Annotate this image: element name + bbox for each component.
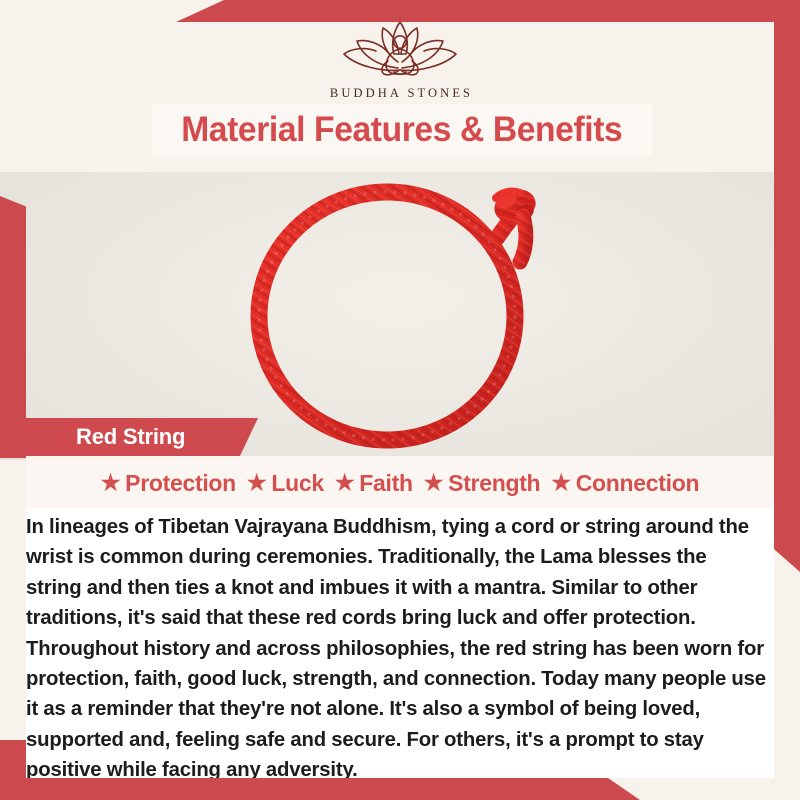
description-text: In lineages of Tibetan Vajrayana Buddhis… [26, 512, 766, 786]
decorative-right-strip-mask [774, 764, 800, 800]
benefit-label: Protection [125, 470, 236, 497]
brand-name: BUDDHA STONES [327, 86, 473, 101]
star-icon: ★ [247, 472, 266, 494]
benefit-faith: ★ Faith [335, 470, 413, 497]
star-icon: ★ [335, 472, 354, 494]
benefit-protection: ★ Protection [101, 470, 236, 497]
page-title: Material Features & Benefits [181, 110, 622, 150]
star-icon: ★ [101, 472, 120, 494]
decorative-right-strip [774, 0, 800, 572]
description-panel: In lineages of Tibetan Vajrayana Buddhis… [26, 508, 774, 778]
material-label: Red String [76, 424, 185, 450]
decorative-bottom-left-block [0, 740, 26, 800]
benefit-strength: ★ Strength [424, 470, 541, 497]
benefit-label: Luck [271, 470, 323, 497]
benefit-label: Connection [576, 470, 700, 497]
benefit-label: Strength [448, 470, 540, 497]
lotus-meditation-icon [326, 14, 474, 84]
benefit-label: Faith [359, 470, 412, 497]
benefits-bar: ★ Protection ★ Luck ★ Faith ★ Strength ★… [26, 456, 774, 510]
hero-image [0, 168, 800, 460]
red-string-bracelet-photo [244, 176, 556, 452]
brand-lockup: BUDDHA STONES [0, 14, 800, 101]
material-ribbon: Red String [0, 418, 258, 456]
page-title-plate: Material Features & Benefits [152, 104, 652, 156]
benefit-connection: ★ Connection [551, 470, 699, 497]
star-icon: ★ [424, 472, 443, 494]
infographic-page: BUDDHA STONES Material Features & Benefi… [0, 0, 800, 800]
benefit-luck: ★ Luck [247, 470, 324, 497]
star-icon: ★ [551, 472, 570, 494]
